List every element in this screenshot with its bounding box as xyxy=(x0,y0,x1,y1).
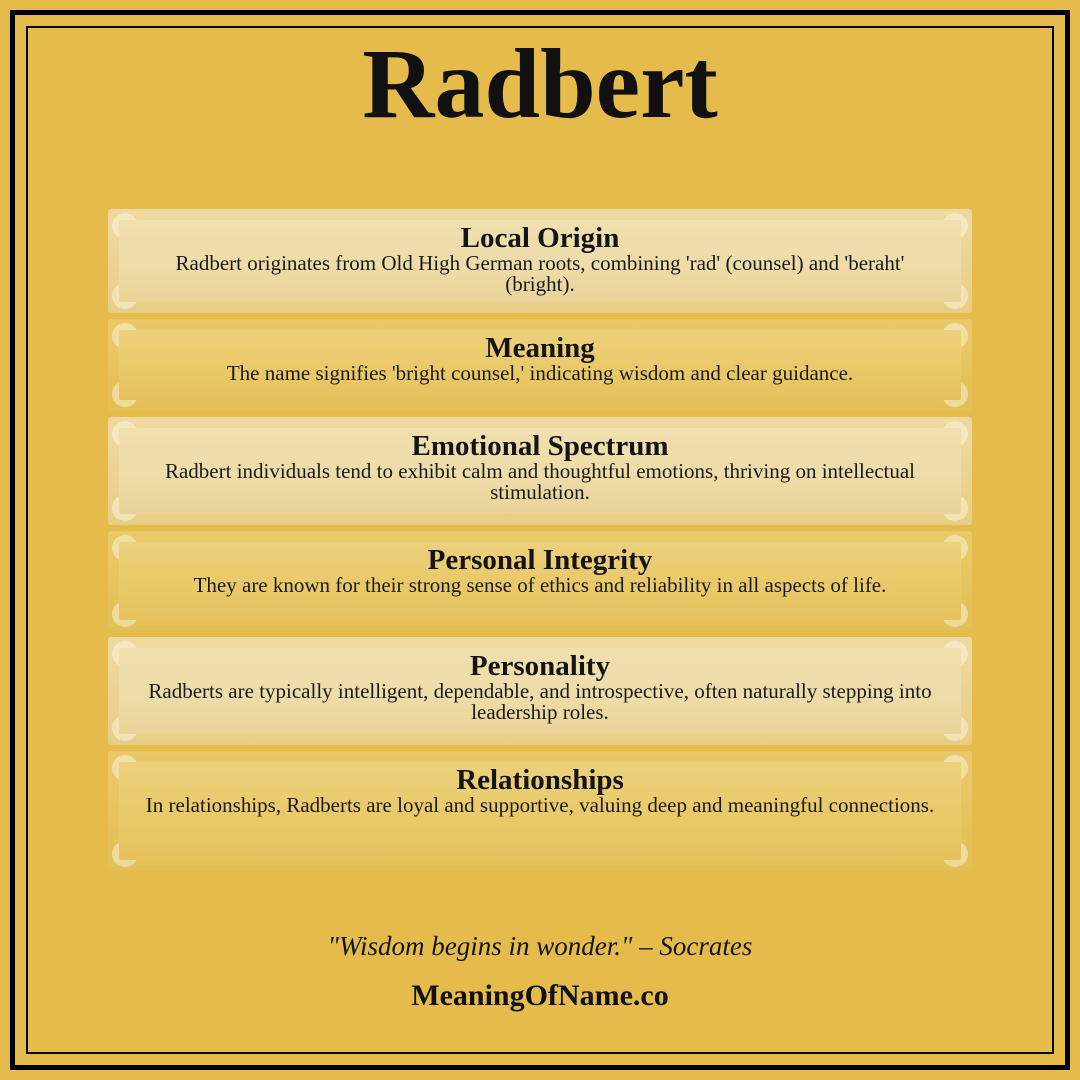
section-card-inner: Personal IntegrityThey are known for the… xyxy=(119,542,961,620)
section-card-inner: RelationshipsIn relationships, Radberts … xyxy=(119,762,961,860)
section-card: RelationshipsIn relationships, Radberts … xyxy=(108,751,972,871)
name-meaning-poster: Radbert Local OriginRadbert originates f… xyxy=(0,0,1080,1080)
section-card: MeaningThe name signifies 'bright counse… xyxy=(108,319,972,411)
section-card-heading: Local Origin xyxy=(145,224,935,253)
section-card-list: Local OriginRadbert originates from Old … xyxy=(108,209,972,877)
section-card: Local OriginRadbert originates from Old … xyxy=(108,209,972,313)
section-card: PersonalityRadberts are typically intell… xyxy=(108,637,972,745)
section-card-inner: MeaningThe name signifies 'bright counse… xyxy=(119,330,961,400)
section-card-heading: Meaning xyxy=(145,334,935,363)
section-card-body: Radbert individuals tend to exhibit calm… xyxy=(145,461,935,504)
section-card: Personal IntegrityThey are known for the… xyxy=(108,531,972,631)
section-card-inner: PersonalityRadberts are typically intell… xyxy=(119,648,961,734)
section-card-body: Radbert originates from Old High German … xyxy=(145,253,935,296)
poster-content: Radbert Local OriginRadbert originates f… xyxy=(0,0,1080,1080)
section-card-heading: Personality xyxy=(145,652,935,681)
section-card: Emotional SpectrumRadbert individuals te… xyxy=(108,417,972,525)
section-card-body: The name signifies 'bright counsel,' ind… xyxy=(145,363,935,384)
section-card-body: In relationships, Radberts are loyal and… xyxy=(145,795,935,816)
section-card-body: Radberts are typically intelligent, depe… xyxy=(145,681,935,724)
section-card-body: They are known for their strong sense of… xyxy=(145,575,935,596)
section-card-heading: Emotional Spectrum xyxy=(145,432,935,461)
section-card-inner: Local OriginRadbert originates from Old … xyxy=(119,220,961,302)
page-title: Radbert xyxy=(0,34,1080,134)
section-card-heading: Personal Integrity xyxy=(145,546,935,575)
section-card-inner: Emotional SpectrumRadbert individuals te… xyxy=(119,428,961,514)
section-card-heading: Relationships xyxy=(145,766,935,795)
footer-quote: "Wisdom begins in wonder." – Socrates xyxy=(0,932,1080,962)
poster-footer: "Wisdom begins in wonder." – Socrates Me… xyxy=(0,932,1080,1012)
brand-name: MeaningOfName.co xyxy=(0,979,1080,1012)
